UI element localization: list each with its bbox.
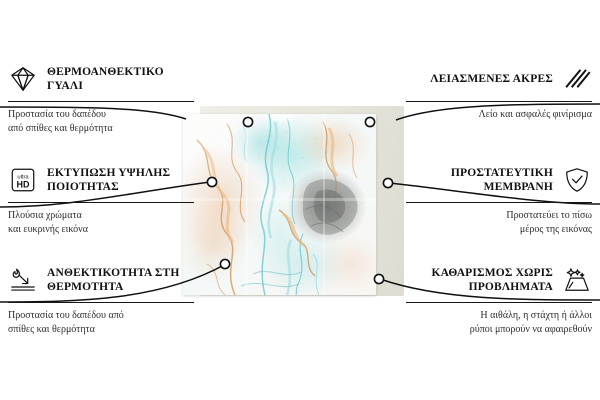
feature-heading: ultra HD ΕΚΤΥΠΩΣΗ ΥΨΗΛΗΣ ΠΟΙΟΤΗΤΑΣ: [8, 163, 194, 197]
shield-check-icon: [562, 166, 592, 194]
feature-title: ΠΡΟΣΤΑΤΕΥΤΙΚΗ ΜΕΜΒΡΑΝΗ: [406, 166, 553, 194]
feature-heading: ΚΑΘΑΡΙΣΜΟΣ ΧΩΡΙΣ ΠΡΟΒΛΗΜΑΤΑ: [406, 263, 592, 297]
feature-heat-durability: ΑΝΘΕΚΤΙΚΟΤΗΤΑ ΣΤΗ ΘΕΡΜΟΤΗΤΑ Προστασία το…: [8, 263, 194, 336]
feature-heading: ΛΕΙΑΣΜΕΝΕΣ ΑΚΡΕΣ: [406, 62, 592, 96]
sparkle-cleaning-icon: [562, 266, 592, 294]
divider: [8, 302, 194, 303]
feature-easy-cleaning: ΚΑΘΑΡΙΣΜΟΣ ΧΩΡΙΣ ΠΡΟΒΛΗΜΑΤΑ Η αιθάλη, η …: [406, 263, 592, 336]
feature-description: Προστασία του δαπέδουαπό σπίθες και θερμ…: [8, 108, 194, 135]
feature-description: Προστασία του δαπέδου απόσπίθες και θερμ…: [8, 309, 194, 336]
feature-description: Λείο και ασφαλές φινίρισμα: [406, 108, 592, 122]
divider: [406, 302, 592, 303]
feature-protective-film: ΠΡΟΣΤΑΤΕΥΤΙΚΗ ΜΕΜΒΡΑΝΗ Προστατεύει το πί…: [406, 163, 592, 236]
badge-bottom-label: HD: [17, 179, 30, 189]
feature-heading: ΘΕΡΜΟΑΝΘΕΚΤΙΚΟ ΓΥΑΛΙ: [8, 62, 194, 96]
feature-heading: ΠΡΟΣΤΑΤΕΥΤΙΚΗ ΜΕΜΒΡΑΝΗ: [406, 163, 592, 197]
feature-title: ΕΚΤΥΠΩΣΗ ΥΨΗΛΗΣ ΠΟΙΟΤΗΤΑΣ: [47, 166, 194, 194]
polished-edges-icon: [562, 65, 592, 93]
feature-title: ΚΑΘΑΡΙΣΜΟΣ ΧΩΡΙΣ ΠΡΟΒΛΗΜΑΤΑ: [406, 266, 553, 294]
diamond-icon: [8, 65, 38, 93]
product-feature-infographic: ΘΕΡΜΟΑΝΘΕΚΤΙΚΟ ΓΥΑΛΙ Προστασία του δαπέδ…: [0, 0, 600, 400]
feature-heading: ΑΝΘΕΚΤΙΚΟΤΗΤΑ ΣΤΗ ΘΕΡΜΟΤΗΤΑ: [8, 263, 194, 297]
feature-title: ΘΕΡΜΟΑΝΘΕΚΤΙΚΟ ΓΥΑΛΙ: [47, 65, 194, 93]
glass-panel: [183, 114, 376, 295]
divider: [406, 202, 592, 203]
ultra-hd-badge-icon: ultra HD: [8, 166, 38, 194]
feature-description: Η αιθάλη, η στάχτη ή άλλοιρύποι μπορούν …: [406, 309, 592, 336]
feature-heat-resistant-glass: ΘΕΡΜΟΑΝΘΕΚΤΙΚΟ ΓΥΑΛΙ Προστασία του δαπέδ…: [8, 62, 194, 135]
divider: [8, 202, 194, 203]
feature-high-quality-print: ultra HD ΕΚΤΥΠΩΣΗ ΥΨΗΛΗΣ ΠΟΙΟΤΗΤΑΣ Πλούσ…: [8, 163, 194, 236]
feature-polished-edges: ΛΕΙΑΣΜΕΝΕΣ ΑΚΡΕΣ Λείο και ασφαλές φινίρι…: [406, 62, 592, 122]
feature-description: Προστατεύει το πίσωμέρος της εικόνας: [406, 209, 592, 236]
product-image: [183, 110, 407, 300]
flame-heat-resistance-icon: [8, 266, 38, 294]
feature-description: Πλούσια χρώματακαι ευκρινής εικόνα: [8, 209, 194, 236]
divider: [8, 101, 194, 102]
divider: [406, 101, 592, 102]
feature-title: ΛΕΙΑΣΜΕΝΕΣ ΑΚΡΕΣ: [430, 72, 553, 86]
marble-artwork: [183, 114, 376, 295]
feature-title: ΑΝΘΕΚΤΙΚΟΤΗΤΑ ΣΤΗ ΘΕΡΜΟΤΗΤΑ: [47, 266, 194, 294]
